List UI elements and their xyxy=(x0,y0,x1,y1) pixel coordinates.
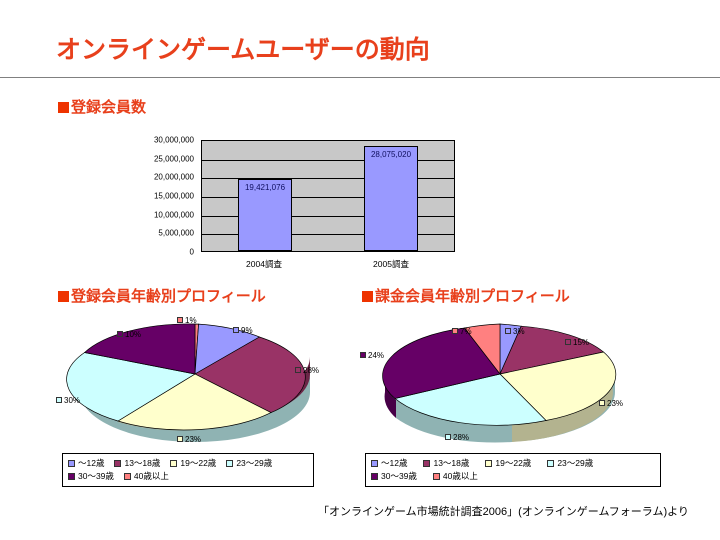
swatch-19-22-icon xyxy=(177,436,183,442)
registered-members-bar-chart: 30,000,000 25,000,000 20,000,000 15,000,… xyxy=(132,136,462,274)
legend-item-23-29[interactable]: 23～29歳 xyxy=(547,457,593,470)
legend-row-1: ～12歳 13～18歳 19～22歳 23～29歳 xyxy=(371,457,655,470)
bar-2005[interactable]: 28,075,020 xyxy=(364,146,418,251)
pie-right-label-19-22: 23% xyxy=(599,399,623,409)
legend-item-13-18[interactable]: 13～18歳 xyxy=(114,457,160,470)
swatch-23-29-icon xyxy=(56,397,62,403)
square-bullet-icon xyxy=(362,291,373,302)
swatch-under12-icon xyxy=(505,328,511,334)
swatch-13-18-icon xyxy=(114,460,121,467)
legend-item-40plus[interactable]: 40歳以上 xyxy=(124,470,169,483)
bar-column-2004: 19,421,076 xyxy=(202,141,328,251)
swatch-13-18-icon xyxy=(423,460,430,467)
section-heading-label: 課金会員年齢別プロフィール xyxy=(375,288,570,305)
swatch-19-22-icon xyxy=(599,400,605,406)
swatch-30-39-icon xyxy=(360,352,366,358)
pie-right-label-23-29: 28% xyxy=(445,433,469,443)
swatch-13-18-icon xyxy=(295,367,301,373)
page-title: オンラインゲームユーザーの動向 xyxy=(56,30,430,66)
legend-row-2: 30～39歳 40歳以上 xyxy=(68,470,308,483)
pie-left-graphic xyxy=(55,312,355,447)
legend-item-19-22[interactable]: 19～22歳 xyxy=(485,457,531,470)
y-axis-tick-25000000: 25,000,000 xyxy=(154,154,194,163)
section-heading-label: 登録会員年齢別プロフィール xyxy=(71,288,266,305)
legend-item-30-39[interactable]: 30～39歳 xyxy=(371,470,417,483)
section-heading-registered-members: 登録会員数 xyxy=(58,96,146,117)
legend-row-1: ～12歳 13～18歳 19～22歳 23～29歳 xyxy=(68,457,308,470)
legend-item-under12[interactable]: ～12歳 xyxy=(68,457,104,470)
x-axis-label-2004: 2004調査 xyxy=(246,258,282,270)
legend-item-30-39[interactable]: 30～39歳 xyxy=(68,470,114,483)
legend-row-2: 30～39歳 40歳以上 xyxy=(371,470,655,483)
swatch-13-18-icon xyxy=(565,339,571,345)
source-citation: 「オンラインゲーム市場統計調査2006」(オンラインゲームフォーラム)より xyxy=(318,503,689,519)
bar-chart-plot-area: 19,421,076 28,075,020 xyxy=(201,140,455,252)
y-axis-tick-30000000: 30,000,000 xyxy=(154,136,194,145)
square-bullet-icon xyxy=(58,102,69,113)
bar-2004[interactable]: 19,421,076 xyxy=(238,179,292,252)
y-axis-tick-20000000: 20,000,000 xyxy=(154,173,194,182)
square-bullet-icon xyxy=(58,291,69,302)
swatch-40plus-icon xyxy=(433,473,440,480)
y-axis-tick-5000000: 5,000,000 xyxy=(158,229,194,238)
pie-right-label-30-39: 24% xyxy=(360,351,384,361)
swatch-30-39-icon xyxy=(371,473,378,480)
swatch-30-39-icon xyxy=(117,331,123,337)
swatch-19-22-icon xyxy=(170,460,177,467)
y-axis-tick-10000000: 10,000,000 xyxy=(154,210,194,219)
pie-left-label-23-29: 30% xyxy=(56,396,80,406)
slide-canvas: オンラインゲームユーザーの動向 登録会員数 30,000,000 25,000,… xyxy=(0,0,720,540)
swatch-under12-icon xyxy=(233,327,239,333)
swatch-under12-icon xyxy=(371,460,378,467)
title-divider xyxy=(0,77,720,78)
bar-value-label-2005: 28,075,020 xyxy=(371,150,411,159)
pie-left-label-40plus: 1% xyxy=(177,316,197,326)
pie-left-legend: ～12歳 13～18歳 19～22歳 23～29歳 30～39歳 40歳以上 xyxy=(62,453,314,487)
y-axis-tick-15000000: 15,000,000 xyxy=(154,192,194,201)
swatch-under12-icon xyxy=(68,460,75,467)
pie-left-label-19-22: 23% xyxy=(177,435,201,445)
swatch-23-29-icon xyxy=(445,434,451,440)
bar-column-2005: 28,075,020 xyxy=(328,141,454,251)
section-heading-label: 登録会員数 xyxy=(71,99,146,116)
swatch-23-29-icon xyxy=(547,460,554,467)
swatch-40plus-icon xyxy=(177,317,183,323)
legend-item-19-22[interactable]: 19～22歳 xyxy=(170,457,216,470)
legend-item-23-29[interactable]: 23～29歳 xyxy=(226,457,272,470)
bar-value-label-2004: 19,421,076 xyxy=(245,183,285,192)
pie-left-label-under12: 9% xyxy=(233,326,253,336)
pie-right-legend: ～12歳 13～18歳 19～22歳 23～29歳 30～39歳 40歳以上 xyxy=(365,453,661,487)
pie-right-label-40plus: 7% xyxy=(452,327,472,337)
pie-left-label-13-18: 28% xyxy=(295,366,319,376)
legend-item-under12[interactable]: ～12歳 xyxy=(371,457,407,470)
x-axis-label-2005: 2005調査 xyxy=(373,258,409,270)
pie-left-label-30-39: 10% xyxy=(117,330,141,340)
section-heading-paying-age-profile: 課金会員年齢別プロフィール xyxy=(362,285,570,306)
legend-item-13-18[interactable]: 13～18歳 xyxy=(423,457,469,470)
swatch-23-29-icon xyxy=(226,460,233,467)
pie-right-label-13-18: 15% xyxy=(565,338,589,348)
pie-right-label-under12: 3% xyxy=(505,327,525,337)
section-heading-registered-age-profile: 登録会員年齢別プロフィール xyxy=(58,285,266,306)
swatch-30-39-icon xyxy=(68,473,75,480)
y-axis-tick-0: 0 xyxy=(190,248,194,257)
swatch-19-22-icon xyxy=(485,460,492,467)
swatch-40plus-icon xyxy=(452,328,458,334)
swatch-40plus-icon xyxy=(124,473,131,480)
legend-item-40plus[interactable]: 40歳以上 xyxy=(433,470,478,483)
